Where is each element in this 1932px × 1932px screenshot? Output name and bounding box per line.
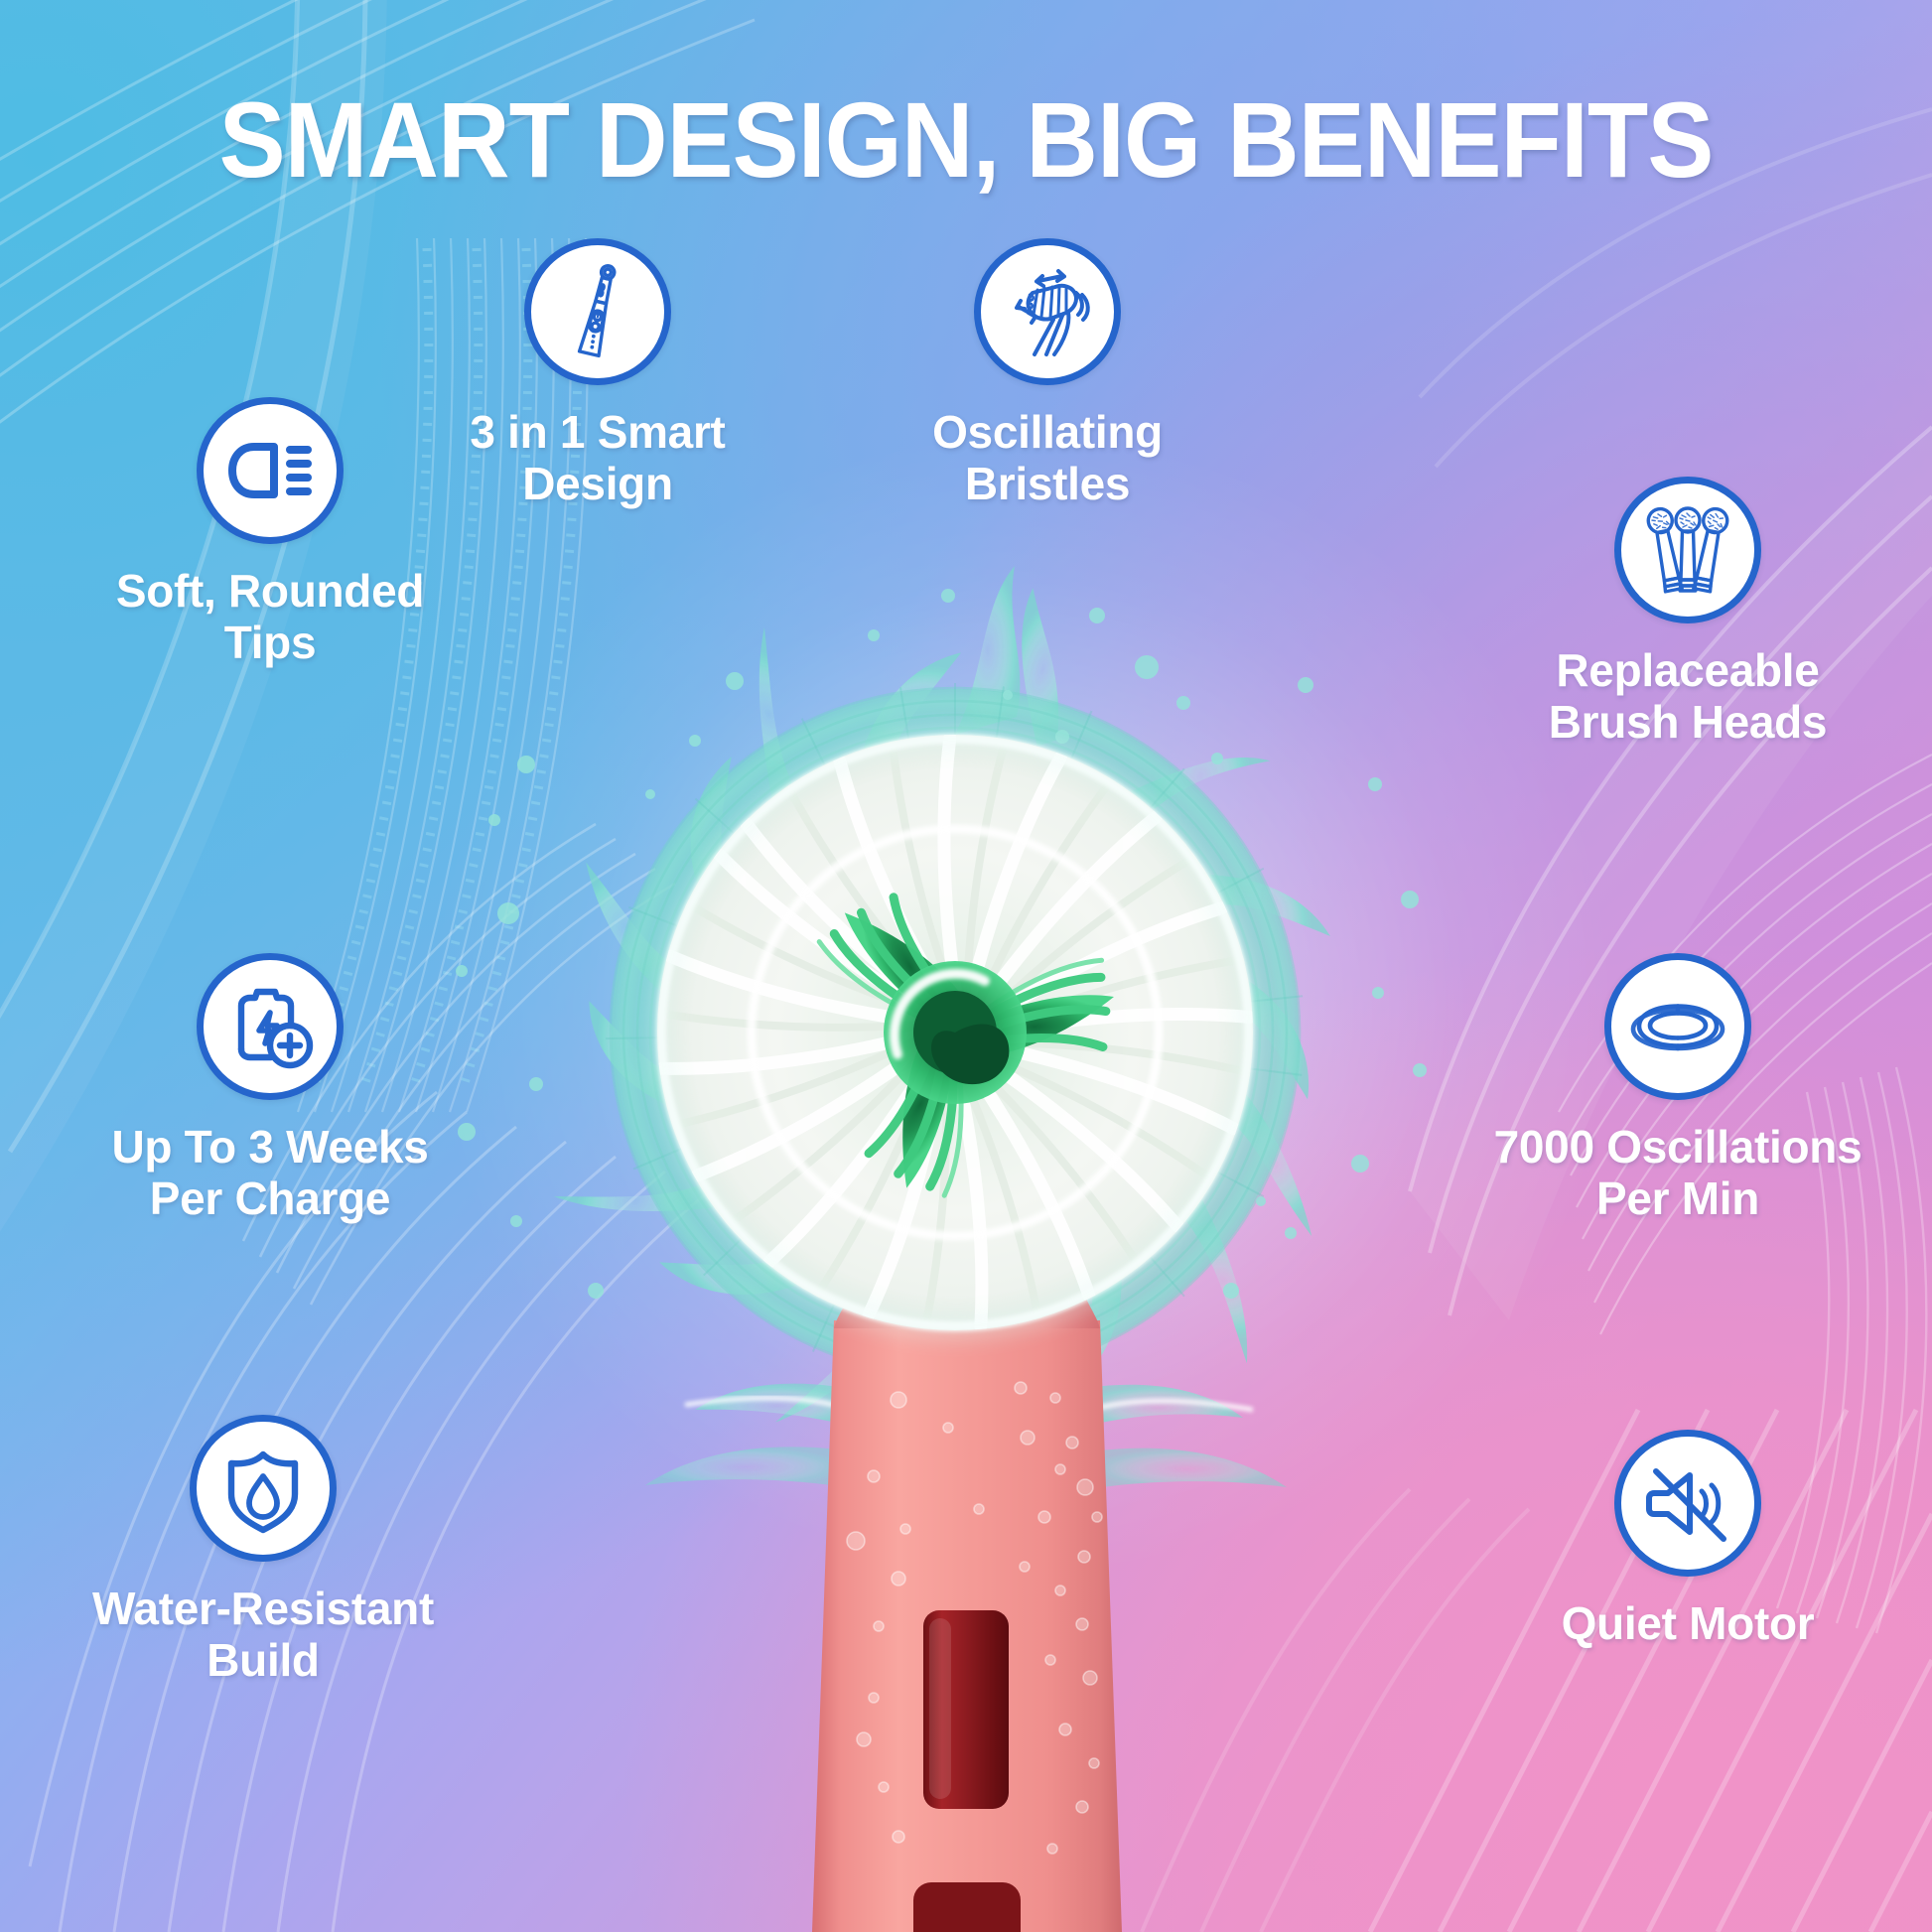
battery-charge-plus-icon xyxy=(197,953,344,1100)
feature-label: 3 in 1 Smart Design xyxy=(470,407,725,510)
feature-label: Quiet Motor xyxy=(1562,1598,1815,1650)
feature-label: Soft, Rounded Tips xyxy=(116,566,424,669)
feature-label: Up To 3 Weeks Per Charge xyxy=(111,1122,428,1225)
page-title: SMART DESIGN, BIG BENEFITS xyxy=(68,77,1864,202)
oscillation-ripples-icon xyxy=(1604,953,1751,1100)
shield-water-drop-icon xyxy=(190,1415,337,1562)
feature-oscillations-per-min[interactable]: 7000 Oscillations Per Min xyxy=(1430,953,1926,1225)
feature-oscillating-bristles[interactable]: Oscillating Bristles xyxy=(884,238,1211,510)
feature-water-resistant-build[interactable]: Water-Resistant Build xyxy=(40,1415,486,1687)
rounded-tip-beam-icon xyxy=(197,397,344,544)
feature-replaceable-brush-heads[interactable]: Replaceable Brush Heads xyxy=(1469,477,1906,749)
product-handle xyxy=(812,1249,1122,1932)
feature-label: Water-Resistant Build xyxy=(92,1584,434,1687)
feature-label: 7000 Oscillations Per Min xyxy=(1494,1122,1863,1225)
feature-battery-life[interactable]: Up To 3 Weeks Per Charge xyxy=(62,953,479,1225)
electric-toothbrush-icon xyxy=(524,238,671,385)
feature-soft-rounded-tips[interactable]: Soft, Rounded Tips xyxy=(62,397,479,669)
feature-label: Oscillating Bristles xyxy=(932,407,1163,510)
feature-quiet-motor[interactable]: Quiet Motor xyxy=(1469,1430,1906,1650)
feature-3-in-1-smart-design[interactable]: 3 in 1 Smart Design xyxy=(439,238,757,510)
oscillating-brush-head-icon xyxy=(974,238,1121,385)
feature-label: Replaceable Brush Heads xyxy=(1549,645,1827,749)
three-brush-heads-icon xyxy=(1614,477,1761,623)
speaker-muted-icon xyxy=(1614,1430,1761,1577)
